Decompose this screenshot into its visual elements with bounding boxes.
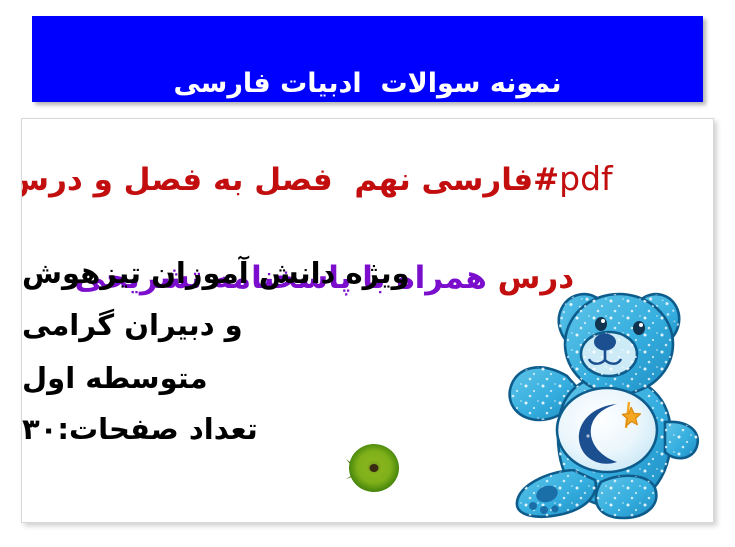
heading-line-1-text: #فارسی نهم فصل به فصل و درس به	[21, 162, 559, 198]
blue-care-bear-illustration	[489, 280, 714, 520]
body-line-level: متوسطه اول	[22, 364, 451, 393]
heading-line-1: pdf#فارسی نهم فصل به فصل و درس به	[22, 131, 713, 227]
header-banner: نمونه سوالات ادبیات فارسی	[32, 16, 703, 102]
green-apple-icon	[344, 440, 404, 496]
slide-root: نمونه سوالات ادبیات فارسی pdf#فارسی نهم …	[0, 0, 735, 547]
heading-line-1-latin: pdf	[559, 159, 613, 198]
content-card: pdf#فارسی نهم فصل به فصل و درس به درس هم…	[21, 118, 714, 523]
banner-title: نمونه سوالات ادبیات فارسی	[173, 68, 561, 99]
body-line-teachers: و دبیران گرامی	[22, 311, 493, 340]
